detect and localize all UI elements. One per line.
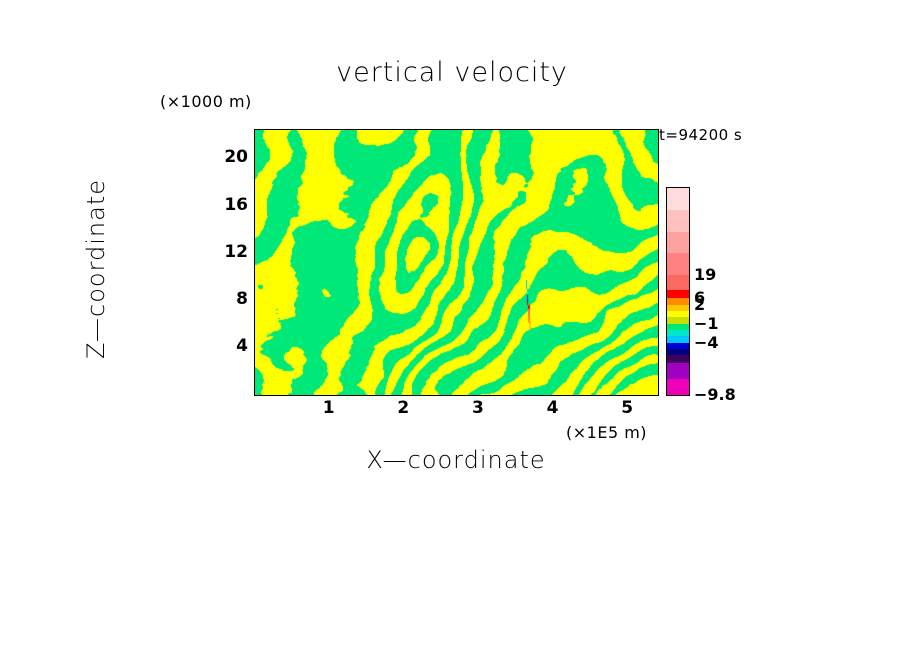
colorbar-band <box>667 355 689 363</box>
colorbar-tick-label: 19 <box>694 265 716 284</box>
x-tick-label: 3 <box>458 398 498 418</box>
colorbar-band <box>667 232 689 254</box>
x-tick-label: 2 <box>383 398 423 418</box>
colorbar-band <box>667 210 689 232</box>
y-tick-label: 20 <box>208 147 248 167</box>
x-tick-label: 4 <box>533 398 573 418</box>
page-title: vertical velocity <box>0 57 904 88</box>
colorbar-tick-label: 2 <box>694 295 705 314</box>
x-axis-unit-label: (×1E5 m) <box>566 423 647 442</box>
x-tick-label: 1 <box>309 398 349 418</box>
figure-canvas: vertical velocity (×1000 m) t=94200 s 48… <box>0 0 904 654</box>
colorbar-band <box>667 253 689 275</box>
colorbar-tick-label: −9.8 <box>694 385 736 404</box>
time-annotation: t=94200 s <box>659 126 742 144</box>
x-tick-label: 5 <box>607 398 647 418</box>
velocity-field-heatmap <box>255 130 658 395</box>
x-axis-title: X—coordinate <box>254 446 658 474</box>
colorbar-band <box>667 379 689 396</box>
colorbar-band <box>667 275 689 290</box>
y-tick-label: 8 <box>208 289 248 309</box>
y-axis-ticks: 48121620 <box>196 129 248 394</box>
y-tick-label: 16 <box>208 195 248 215</box>
colorbar-tick-label: −4 <box>694 333 719 352</box>
y-tick-label: 12 <box>208 242 248 262</box>
colorbar-band <box>667 188 689 210</box>
colorbar-band <box>667 290 689 298</box>
colorbar-band <box>667 363 689 378</box>
colorbar <box>666 187 690 396</box>
colorbar-tick-label: −1 <box>694 314 719 333</box>
y-tick-label: 4 <box>208 336 248 356</box>
y-axis-unit-label: (×1000 m) <box>160 92 252 111</box>
colorbar-labels: 1962−1−4−9.8 <box>694 187 784 397</box>
contour-plot-area <box>254 129 659 396</box>
y-axis-title: Z—coordinate <box>82 159 110 379</box>
x-axis-ticks: 12345 <box>254 398 657 424</box>
